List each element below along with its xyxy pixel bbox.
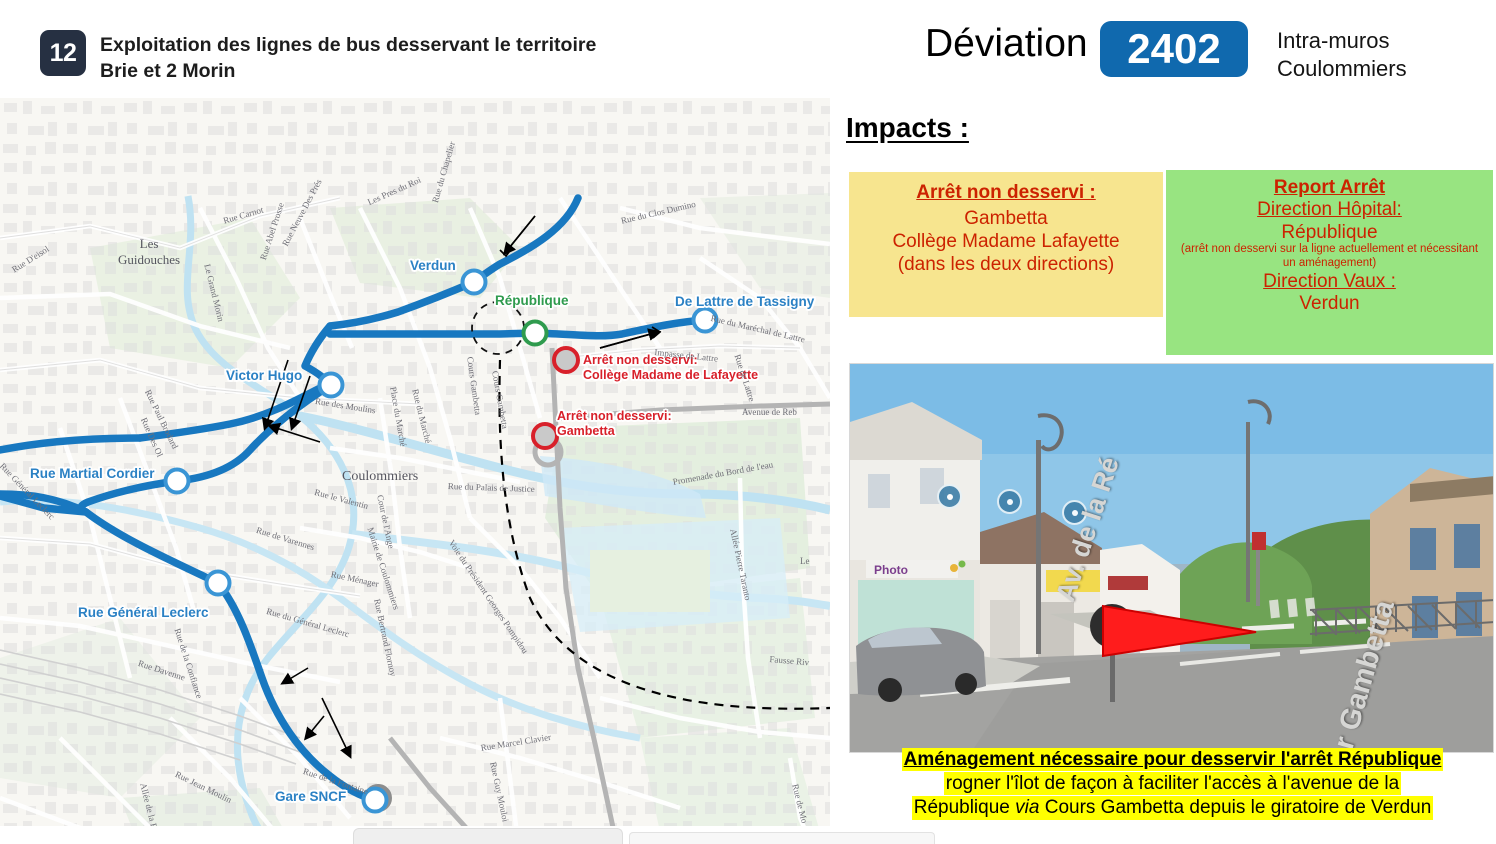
streetview-pin-1[interactable] — [937, 484, 962, 509]
impact-yellow-line2: Collège Madame Lafayette — [892, 230, 1119, 253]
caption-line3-a: République — [914, 797, 1015, 818]
map-street-label: Avenue de Reb — [742, 407, 797, 417]
caption-line1: Aménagement nécessaire pour desservir l'… — [902, 748, 1444, 771]
map-stop-label-victor-hugo: Victor Hugo — [226, 368, 302, 383]
impact-green-note: (arrêt non desservi sur la ligne actuell… — [1166, 243, 1493, 270]
page-title-line2: Brie et 2 Morin — [100, 59, 720, 85]
map-stop-label-de-lattre: De Lattre de Tassigny — [675, 294, 814, 309]
impact-green-stop-republique: République — [1281, 222, 1377, 244]
map-stop-label-gare-sncf: Gare SNCF — [275, 789, 346, 804]
caption-line3-via: via — [1015, 797, 1039, 818]
street-view-photo[interactable]: Photo — [849, 363, 1494, 753]
impact-green-subheading-hopital: Direction Hôpital: — [1257, 199, 1402, 222]
deviation-label: Déviation — [925, 22, 1088, 66]
impact-box-stop-relocated: Report Arrêt Direction Hôpital: Républiq… — [1166, 170, 1493, 355]
map-stop-label-general-leclerc: Rue Général Leclerc — [78, 605, 209, 620]
page-title: Exploitation des lignes de bus desservan… — [100, 33, 720, 84]
cropped-panel-right[interactable] — [629, 832, 935, 844]
impact-green-stop-verdun: Verdun — [1299, 293, 1359, 315]
impact-green-heading: Report Arrêt — [1274, 177, 1385, 199]
impacts-heading: Impacts : — [846, 112, 969, 144]
map-stop-label-republique: République — [495, 293, 569, 308]
map-stop-label-martial-cordier: Rue Martial Cordier — [30, 466, 155, 481]
slide-number-badge: 12 — [40, 30, 86, 76]
destination-line2: Coulommiers — [1277, 55, 1407, 83]
impact-yellow-line1: Gambetta — [964, 207, 1047, 230]
impact-yellow-line3: (dans les deux directions) — [898, 253, 1115, 276]
photo-scene: Photo — [850, 364, 1494, 753]
photo-caption: Aménagement nécessaire pour desservir l'… — [849, 748, 1496, 820]
page-title-line1: Exploitation des lignes de bus desservan… — [100, 33, 720, 59]
map-basemap — [0, 98, 830, 832]
slide-header: 12 Exploitation des lignes de bus desser… — [0, 0, 1496, 98]
map-stop-label-verdun: Verdun — [410, 258, 456, 273]
impact-yellow-heading: Arrêt non desservi : — [916, 182, 1096, 204]
line-number-badge: 2402 — [1100, 21, 1248, 77]
caption-line2: rogner l'îlot de façon à faciliter l'acc… — [944, 772, 1401, 795]
map-annotation-gambetta: Arrêt non desservi: Gambetta — [557, 409, 672, 439]
destination-line1: Intra-muros — [1277, 27, 1407, 55]
svg-text:Photo: Photo — [874, 563, 908, 577]
map-street-label: Le — [800, 556, 810, 566]
place-label-les-guidouches: LesGuidouches — [118, 236, 180, 267]
streetview-pin-2[interactable] — [997, 489, 1022, 514]
destination-label: Intra-muros Coulommiers — [1277, 27, 1407, 83]
place-label-coulommiers: Coulommiers — [342, 469, 418, 486]
cropped-panel-left[interactable] — [353, 828, 623, 844]
caption-line3-b: Cours Gambetta depuis le giratoire de Ve… — [1039, 797, 1431, 818]
caption-line3: République via Cours Gambetta depuis le … — [912, 796, 1434, 819]
impact-box-stop-not-served: Arrêt non desservi : Gambetta Collège Ma… — [849, 172, 1163, 317]
impact-green-subheading-vaux: Direction Vaux : — [1263, 271, 1396, 294]
route-map[interactable]: LesGuidouches Coulommiers Vaux Verdun Ré… — [0, 98, 830, 832]
